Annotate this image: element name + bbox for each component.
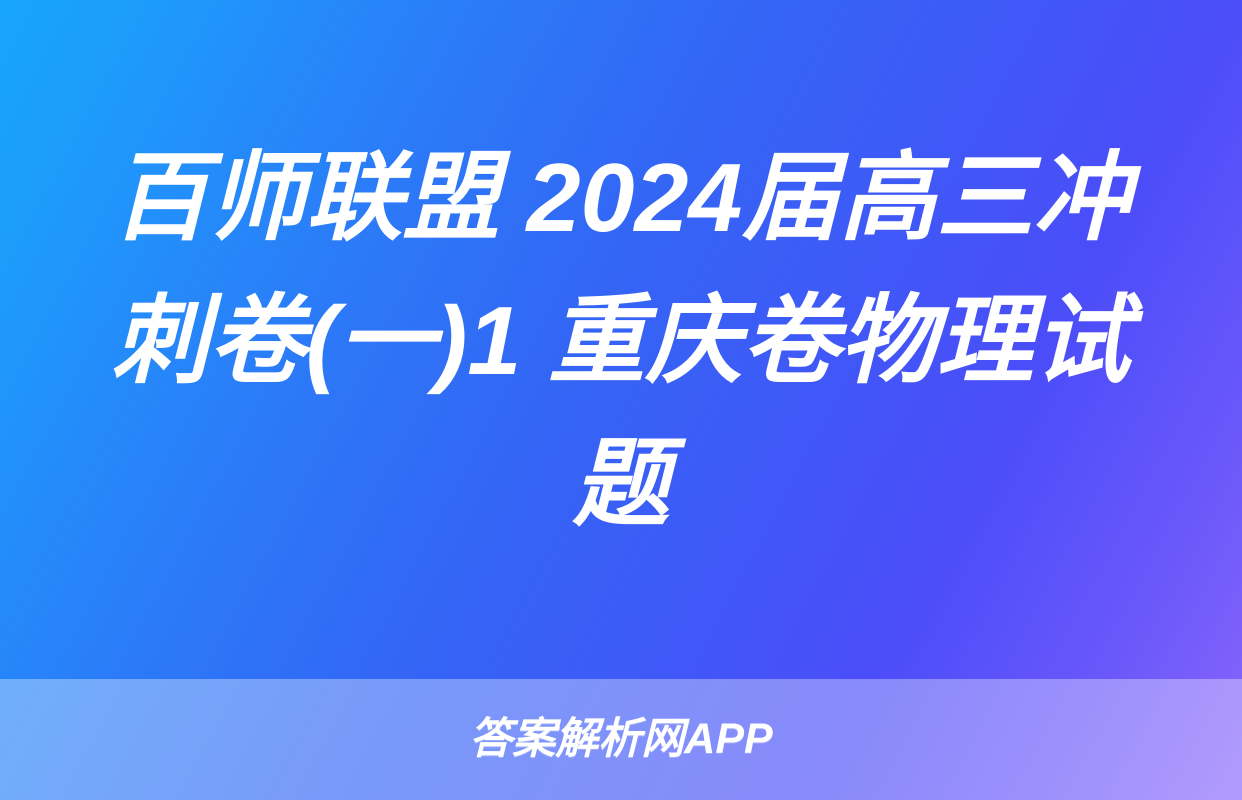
- title-line-1: 百师联盟 2024届高三冲: [112, 143, 1131, 252]
- title-stage: 百师联盟 2024届高三冲刺卷(一)1 重庆卷物理试题: [0, 0, 1242, 680]
- page-title: 百师联盟 2024届高三冲刺卷(一)1 重庆卷物理试题: [72, 126, 1170, 555]
- title-line-3: 题: [573, 429, 670, 538]
- title-line-2: 刺卷(一)1 重庆卷物理试: [112, 286, 1131, 395]
- watermark-text: 答案解析网APP: [469, 718, 772, 761]
- poster-canvas: 百师联盟 2024届高三冲刺卷(一)1 重庆卷物理试题 答案解析网APP: [0, 0, 1242, 800]
- watermark-band: 答案解析网APP: [0, 679, 1242, 800]
